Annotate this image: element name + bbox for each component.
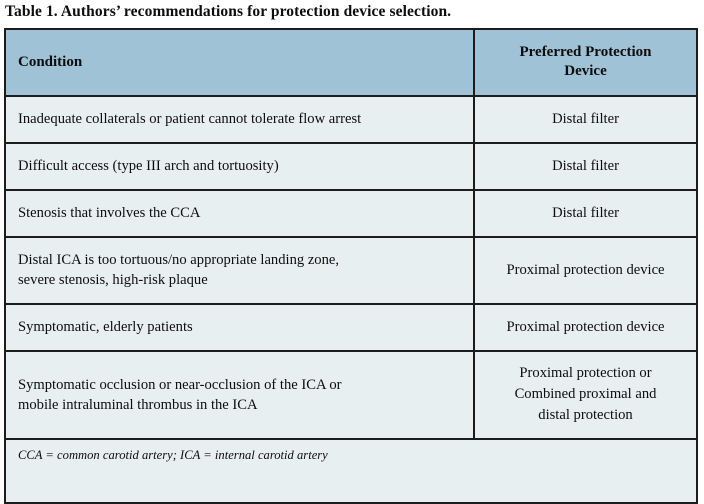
device-line: Distal filter — [487, 203, 684, 223]
column-header-condition: Condition — [6, 30, 474, 96]
condition-line: severe stenosis, high-risk plaque — [18, 270, 461, 290]
device-line: Proximal protection or — [487, 363, 684, 384]
footnote-row: CCA = common carotid artery; ICA = inter… — [6, 439, 696, 502]
table-body: Inadequate collaterals or patient cannot… — [6, 96, 696, 439]
table-row: Distal ICA is too tortuous/no appropriat… — [6, 237, 696, 304]
table-row: Stenosis that involves the CCA Distal fi… — [6, 190, 696, 237]
device-line: Distal filter — [487, 109, 684, 129]
table-row: Inadequate collaterals or patient cannot… — [6, 96, 696, 143]
table-header: Condition Preferred Protection Device — [6, 30, 696, 96]
condition-line: Difficult access (type III arch and tort… — [18, 156, 461, 176]
cell-condition: Symptomatic occlusion or near-occlusion … — [6, 351, 474, 439]
recommendations-table-container: Condition Preferred Protection Device In… — [4, 28, 698, 504]
cell-condition: Difficult access (type III arch and tort… — [6, 143, 474, 190]
cell-condition: Stenosis that involves the CCA — [6, 190, 474, 237]
cell-device: Proximal protection or Combined proximal… — [474, 351, 696, 439]
condition-line: Inadequate collaterals or patient cannot… — [18, 109, 461, 129]
cell-device: Distal filter — [474, 96, 696, 143]
cell-condition: Inadequate collaterals or patient cannot… — [6, 96, 474, 143]
table-caption: Table 1. Authors’ recommendations for pr… — [5, 1, 451, 23]
cell-device: Distal filter — [474, 143, 696, 190]
cell-condition: Distal ICA is too tortuous/no appropriat… — [6, 237, 474, 304]
column-header-device-line-2: Device — [487, 62, 684, 81]
condition-line: Symptomatic, elderly patients — [18, 317, 461, 337]
device-line: Combined proximal and — [487, 384, 684, 405]
recommendations-table: Condition Preferred Protection Device In… — [6, 30, 696, 502]
cell-device: Proximal protection device — [474, 237, 696, 304]
condition-line: Distal ICA is too tortuous/no appropriat… — [18, 250, 461, 270]
cell-device: Distal filter — [474, 190, 696, 237]
device-line: Proximal protection device — [487, 317, 684, 337]
header-row: Condition Preferred Protection Device — [6, 30, 696, 96]
cell-device: Proximal protection device — [474, 304, 696, 351]
table-row: Symptomatic, elderly patients Proximal p… — [6, 304, 696, 351]
device-line: distal protection — [487, 405, 684, 426]
device-line: Proximal protection device — [487, 260, 684, 280]
table-row: Difficult access (type III arch and tort… — [6, 143, 696, 190]
table-figure-page: Table 1. Authors’ recommendations for pr… — [0, 0, 704, 473]
table-row: Symptomatic occlusion or near-occlusion … — [6, 351, 696, 439]
table-footnote: CCA = common carotid artery; ICA = inter… — [6, 439, 696, 502]
cell-condition: Symptomatic, elderly patients — [6, 304, 474, 351]
column-header-device: Preferred Protection Device — [474, 30, 696, 96]
condition-line: mobile intraluminal thrombus in the ICA — [18, 395, 461, 415]
condition-line: Stenosis that involves the CCA — [18, 203, 461, 223]
device-line: Distal filter — [487, 156, 684, 176]
column-header-device-line-1: Preferred Protection — [487, 43, 684, 62]
condition-line: Symptomatic occlusion or near-occlusion … — [18, 375, 461, 395]
table-footer: CCA = common carotid artery; ICA = inter… — [6, 439, 696, 502]
